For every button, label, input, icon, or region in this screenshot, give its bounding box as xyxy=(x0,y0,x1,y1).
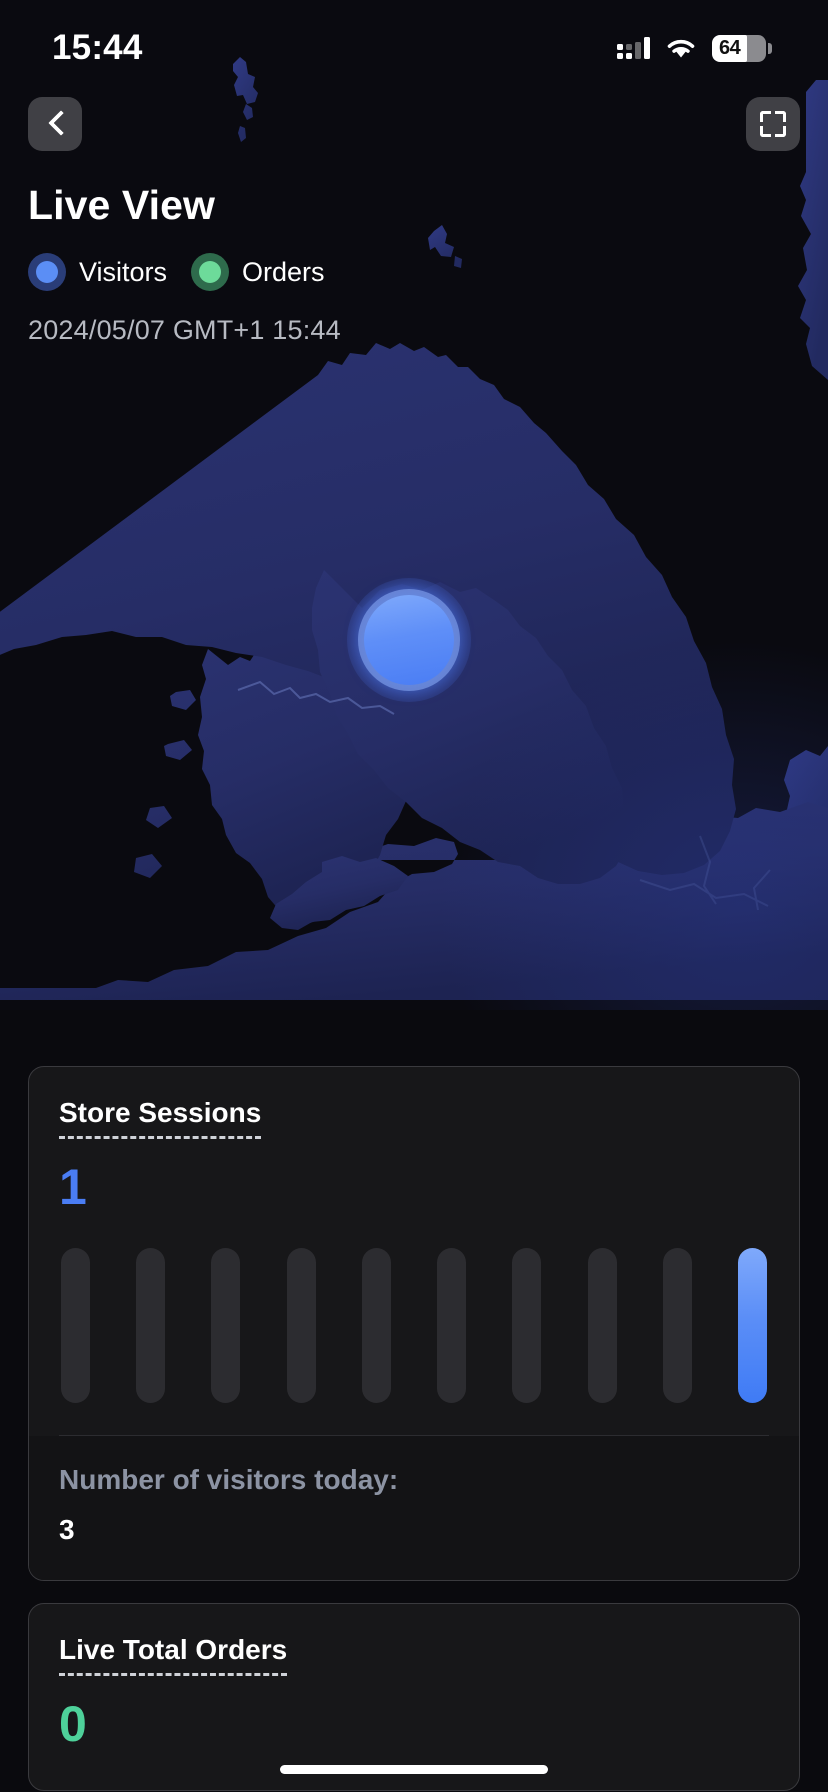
marker-dot xyxy=(364,595,454,685)
status-bar: 15:44 xyxy=(0,0,828,86)
status-bar-icons: 64 xyxy=(617,35,772,62)
battery-level-label: 64 xyxy=(712,37,740,60)
live-total-orders-value: 0 xyxy=(59,1698,769,1751)
visitors-dot-icon xyxy=(28,253,66,291)
navigation-bar xyxy=(0,96,828,152)
store-sessions-value: 1 xyxy=(59,1161,769,1214)
bar-4[interactable] xyxy=(287,1248,316,1403)
bar-6[interactable] xyxy=(437,1248,466,1403)
expand-icon xyxy=(760,111,786,137)
bar-1[interactable] xyxy=(61,1248,90,1403)
timestamp-label: 2024/05/07 GMT+1 15:44 xyxy=(28,315,341,346)
header-block: Live View Visitors Orders 2024/05/07 GMT… xyxy=(28,182,341,346)
cellular-signal-icon xyxy=(617,37,650,59)
page-title: Live View xyxy=(28,182,341,229)
bar-8[interactable] xyxy=(588,1248,617,1403)
bar-7[interactable] xyxy=(512,1248,541,1403)
map-legend: Visitors Orders xyxy=(28,253,341,291)
metric-cards: Store Sessions 1 Number of visitors toda… xyxy=(0,1066,828,1792)
live-total-orders-title[interactable]: Live Total Orders xyxy=(59,1634,287,1676)
bar-5[interactable] xyxy=(362,1248,391,1403)
store-sessions-footer: Number of visitors today: 3 xyxy=(29,1436,799,1580)
live-view-screen: 15:44 xyxy=(0,0,828,1792)
store-sessions-bar-chart xyxy=(59,1248,769,1403)
home-indicator[interactable] xyxy=(280,1765,548,1774)
live-total-orders-body: Live Total Orders 0 xyxy=(29,1604,799,1791)
back-button[interactable] xyxy=(28,97,82,151)
visitors-today-value: 3 xyxy=(59,1514,769,1546)
battery-icon: 64 xyxy=(712,35,772,62)
chevron-left-icon xyxy=(48,111,63,137)
fullscreen-button[interactable] xyxy=(746,97,800,151)
live-total-orders-card[interactable]: Live Total Orders 0 xyxy=(28,1603,800,1792)
status-bar-clock: 15:44 xyxy=(52,28,143,68)
legend-label-visitors: Visitors xyxy=(79,257,167,288)
legend-item-orders[interactable]: Orders xyxy=(191,253,325,291)
visitor-map-marker[interactable] xyxy=(347,578,471,702)
bar-3[interactable] xyxy=(211,1248,240,1403)
legend-label-orders: Orders xyxy=(242,257,325,288)
wifi-icon xyxy=(664,36,698,61)
store-sessions-title[interactable]: Store Sessions xyxy=(59,1097,261,1139)
battery-cap xyxy=(768,43,772,54)
bar-2[interactable] xyxy=(136,1248,165,1403)
bar-10[interactable] xyxy=(738,1248,767,1403)
bar-9[interactable] xyxy=(663,1248,692,1403)
store-sessions-body: Store Sessions 1 xyxy=(29,1067,799,1436)
legend-item-visitors[interactable]: Visitors xyxy=(28,253,167,291)
visitors-today-label: Number of visitors today: xyxy=(59,1464,769,1496)
store-sessions-card[interactable]: Store Sessions 1 Number of visitors toda… xyxy=(28,1066,800,1581)
orders-dot-icon xyxy=(191,253,229,291)
map-island-orkney xyxy=(428,225,462,268)
